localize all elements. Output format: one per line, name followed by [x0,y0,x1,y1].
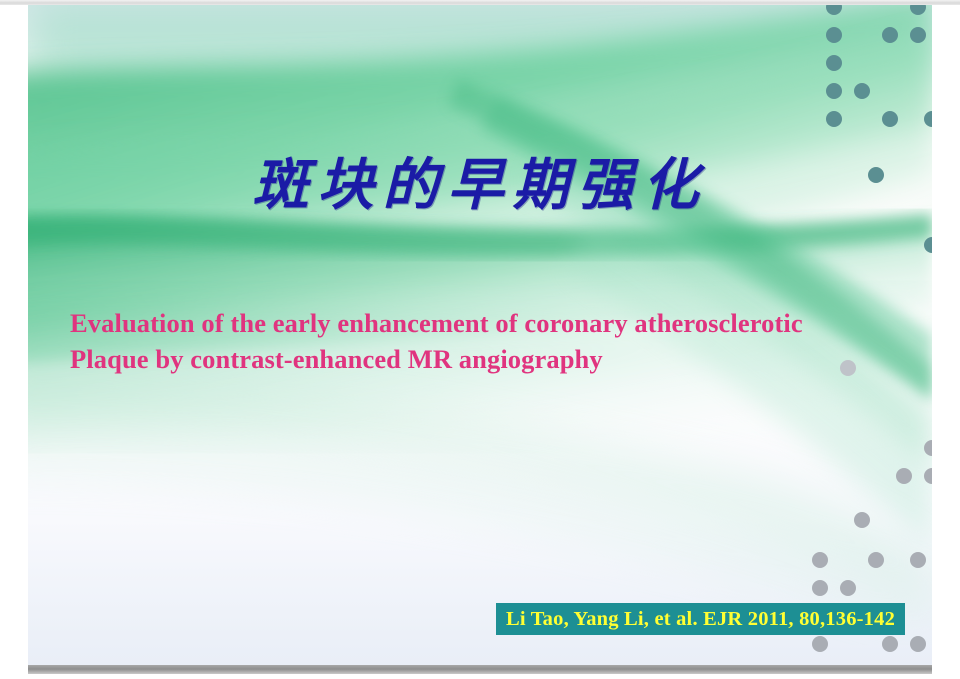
gray-dot-pattern [798,360,932,640]
english-subtitle: Evaluation of the early enhancement of c… [70,305,920,377]
slide-canvas: 斑块的早期强化 Evaluation of the early enhancem… [0,0,960,679]
citation-badge: Li Tao, Yang Li, et al. EJR 2011, 80,136… [496,603,905,635]
presentation-slide: 斑块的早期强化 Evaluation of the early enhancem… [28,5,932,665]
citation-text: Li Tao, Yang Li, et al. EJR 2011, 80,136… [506,608,895,631]
bottom-edge-strip [28,665,932,674]
subtitle-line-2: Plaque by contrast-enhanced MR angiograp… [70,341,920,377]
subtitle-line-1: Evaluation of the early enhancement of c… [70,305,920,341]
chinese-title: 斑块的早期强化 [28,153,932,217]
